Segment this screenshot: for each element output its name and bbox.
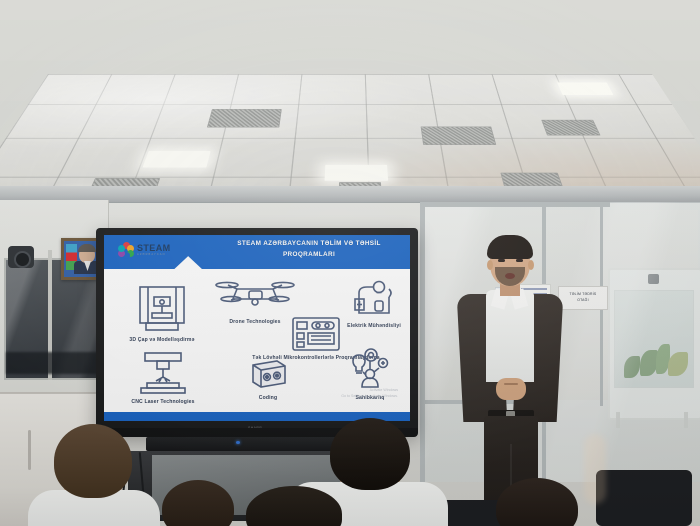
audience-head [496, 478, 578, 526]
steam-logo-text: STEAM AZƏRBAYCAN [137, 244, 171, 257]
display-screen[interactable]: STEAM AZƏRBAYCANIN TƏLİM VƏ TƏHSİL PROQR… [104, 235, 410, 421]
windows-activation-watermark: Activate Windows Go to Settings to activ… [341, 388, 398, 399]
drone-icon [215, 273, 295, 317]
presenter-clasped-hands [496, 378, 526, 400]
audience-head [162, 480, 234, 526]
audience-head [246, 486, 342, 526]
camera-icon [8, 246, 34, 268]
presenter-eye-left [498, 259, 505, 262]
presenter-ear-left [487, 260, 493, 270]
ceiling-air-vent [207, 109, 282, 127]
presentation-slide: STEAM AZƏRBAYCANIN TƏLİM VƏ TƏHSİL PROQR… [104, 235, 410, 421]
slide-title: STEAM AZƏRBAYCANIN TƏLİM VƏ TƏHSİL PROQR… [214, 239, 404, 260]
watermark-line2: Go to Settings to activate Windows. [341, 394, 398, 399]
ceiling-air-vent [421, 126, 497, 145]
portrait-hair [78, 244, 96, 252]
entrepreneurship-icon [343, 347, 397, 393]
glass-frame-horizontal [420, 202, 610, 207]
ceiling-panel-light [557, 82, 613, 94]
ceiling-air-vent [500, 173, 562, 187]
booth-desk [6, 352, 102, 374]
presenter-ear-right [528, 260, 534, 270]
3d-printer-icon [134, 283, 190, 335]
slide-title-line2: PROQRAMLARI [214, 250, 404, 261]
presenter-hair [487, 235, 533, 259]
power-led-indicator [236, 441, 240, 444]
logo-wordmark: STEAM [137, 244, 171, 253]
audience-head [54, 424, 132, 498]
ceiling-panel-light [325, 165, 389, 181]
program-item-coding: Coding [220, 353, 316, 401]
presentation-photo-scene: TƏLİM TƏDRİS OTAĞI [0, 0, 700, 526]
logo-subtext: AZƏRBAYCAN [137, 254, 171, 257]
logo-petal [118, 245, 125, 252]
program-label: 3D Çap və Modelləşdirmə [110, 337, 214, 343]
room-name-sign: TƏLİM TƏDRİS OTAĞI [558, 286, 608, 310]
program-item-electrical-engineering: Elektrik Mühəndisliyi [328, 279, 410, 329]
steam-flower-logo-icon [118, 242, 134, 258]
interactive-display[interactable]: STEAM AZƏRBAYCANIN TƏLİM VƏ TƏHSİL PROQR… [96, 228, 418, 434]
room-sign-line2: OTAĞI [577, 298, 589, 304]
audience-head [330, 418, 410, 490]
coding-robot-icon [245, 353, 291, 393]
presenter-finger-line [504, 383, 518, 385]
audience-member [236, 486, 362, 526]
cnc-laser-icon [135, 349, 191, 397]
program-item-3d-printing: 3D Çap və Modelləşdirmə [110, 283, 214, 343]
presenter-mouth [505, 273, 515, 279]
ceiling-air-vent [541, 120, 600, 136]
presenter-eye-right [516, 259, 523, 262]
program-label: Elektrik Mühəndisliyi [328, 323, 410, 329]
slide-title-line1: STEAM AZƏRBAYCANIN TƏLİM VƏ TƏHSİL [214, 239, 404, 250]
program-label: CNC Laser Technologies [110, 399, 216, 405]
ceiling-panel-light [143, 151, 211, 167]
steam-logo: STEAM AZƏRBAYCAN [118, 242, 171, 258]
audience-member [480, 478, 602, 526]
cabinet-seam [0, 392, 106, 393]
audience-member [28, 424, 160, 526]
program-item-cnc-laser: CNC Laser Technologies [110, 349, 216, 405]
electric-circuit-icon [349, 279, 399, 321]
program-label: Coding [220, 395, 316, 401]
